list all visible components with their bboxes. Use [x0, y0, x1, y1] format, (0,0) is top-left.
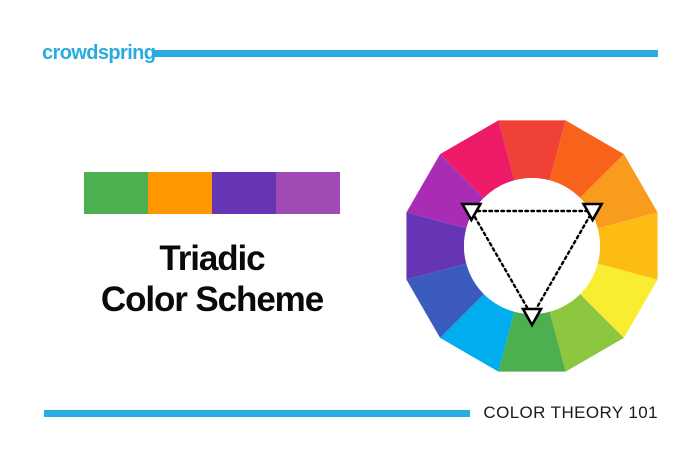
color-wheel-hub [464, 178, 600, 314]
footer-series-label: COLOR THEORY 101 [483, 400, 658, 426]
page-title-line-1: Triadic [24, 238, 400, 279]
palette-swatch-orange [148, 172, 212, 214]
infographic-canvas: crowdspring Triadic Color Scheme COLOR T… [0, 0, 700, 466]
palette-swatch-magenta [276, 172, 340, 214]
footer-divider-rule [44, 410, 470, 417]
scheme-panel: Triadic Color Scheme [0, 150, 420, 350]
palette-swatch-bar [84, 172, 340, 214]
header: crowdspring [0, 38, 700, 72]
color-wheel [396, 110, 668, 382]
color-wheel-svg [396, 110, 668, 382]
page-title-line-2: Color Scheme [24, 279, 400, 320]
page-title: Triadic Color Scheme [24, 238, 400, 320]
header-divider-rule [153, 50, 658, 57]
palette-swatch-green [84, 172, 148, 214]
palette-swatch-violet [212, 172, 276, 214]
footer: COLOR THEORY 101 [0, 400, 700, 436]
brand-logo: crowdspring [42, 38, 155, 68]
